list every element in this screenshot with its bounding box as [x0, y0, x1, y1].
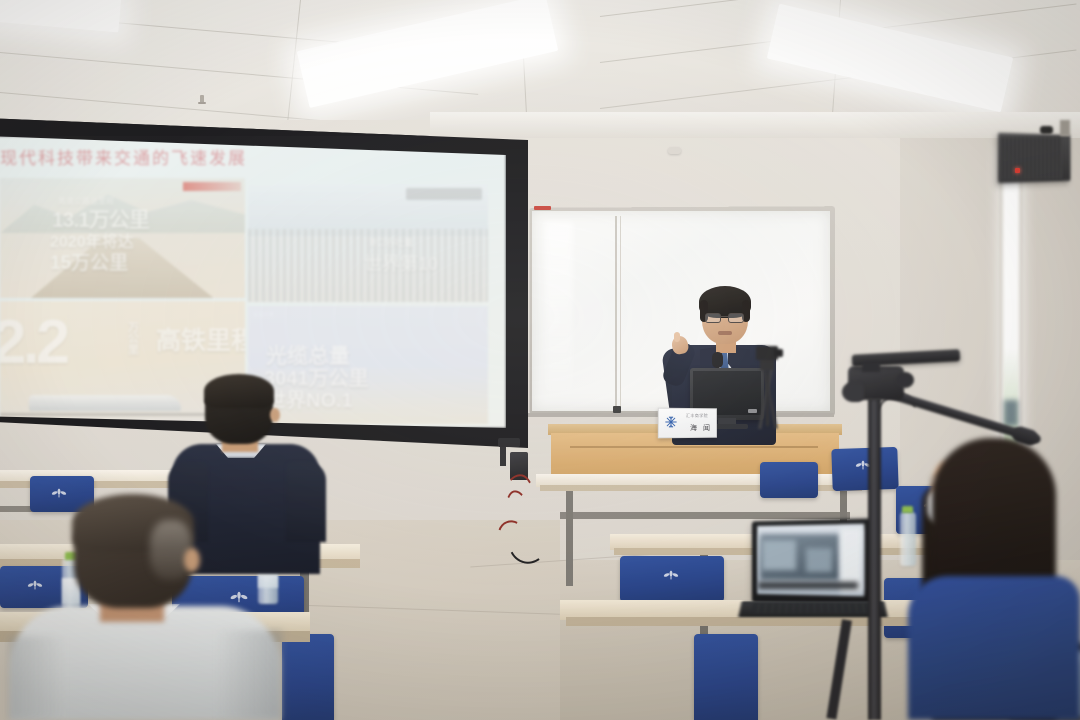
desk-shelf [560, 512, 850, 519]
placard-name: 海 闻 [690, 423, 712, 433]
slide-text: 世界第10 [364, 250, 438, 276]
lecture-hall-photo: 现代科技带来交通的飞速发展 高速公路总里程 13.1万公里 2020年将达 15… [0, 0, 1080, 720]
speaker-finger [674, 332, 680, 342]
slide-text: 2.2 [0, 307, 66, 378]
desk-leg [566, 490, 573, 586]
video-tile [806, 548, 832, 572]
speaker-glasses-lens [705, 313, 721, 323]
whiteboard-rail [620, 216, 621, 412]
speaker-glasses-lens [728, 313, 744, 323]
camera-lens [774, 349, 783, 357]
chair[interactable] [760, 462, 818, 498]
pole-cap [498, 438, 520, 447]
ceiling-camera [1040, 126, 1053, 134]
attendee-2-shading [216, 630, 282, 720]
attendee-3-body [908, 576, 1080, 720]
slide-text: 世界NO.1 [266, 384, 353, 413]
slide-text: 港口吞吐量 [368, 236, 413, 249]
attendee-1-ear [270, 408, 280, 422]
slide-text: 万公里 [128, 323, 142, 356]
podium-groove [570, 446, 818, 448]
tripod-knob[interactable] [896, 372, 914, 388]
ceiling-sensor [668, 147, 681, 154]
slide-quadrant-top-right: 港口吞吐量 世界第10 [248, 184, 488, 302]
slide-text: 15万公里 [50, 248, 128, 275]
bottle-cap [902, 506, 913, 513]
attendee-2-shading [8, 636, 66, 720]
slide-title: 现代科技带来交通的飞速发展 [0, 144, 340, 169]
university-emblem-icon [660, 568, 682, 580]
taskbar [758, 582, 858, 589]
cctv-watermark: CCTV [254, 312, 274, 318]
university-emblem-icon [24, 578, 46, 590]
tripod-knob[interactable] [842, 382, 864, 402]
tripod-leg [766, 368, 769, 426]
microphone [712, 352, 723, 368]
ceiling-light-panel [767, 4, 1013, 113]
chair[interactable] [694, 634, 758, 720]
whiteboard-clip [613, 406, 621, 413]
water-bottle[interactable] [900, 512, 916, 566]
university-emblem-icon [226, 590, 252, 604]
speaker-mouth [718, 331, 732, 335]
slide-quadrant-top-left: 高速公路总里程 13.1万公里 2020年将达 15万公里 [0, 178, 245, 298]
chair[interactable] [282, 634, 334, 720]
sprinkler-head [200, 95, 204, 104]
speaker-grille [1000, 137, 1062, 179]
attendee-2-ear [184, 548, 200, 572]
video-tile [762, 540, 796, 570]
speaker-led-indicator [1015, 168, 1020, 173]
attendee-1-hair [204, 374, 274, 408]
whiteboard-rail [615, 216, 617, 412]
quick-release-plate [862, 362, 880, 372]
speaker-bracket [1060, 120, 1070, 136]
ceiling-light-panel [0, 0, 121, 32]
snowflake-logo [664, 415, 678, 429]
speaker-glasses-bridge [721, 316, 728, 317]
ceiling-light-panel [297, 0, 559, 108]
whiteboard-glare [545, 222, 573, 392]
whiteboard-marker[interactable] [534, 206, 551, 210]
tripod-column [868, 398, 881, 720]
placard-org: 汇丰商学院 [686, 413, 708, 419]
slide-text: 高铁里程 [156, 321, 245, 357]
monitor-brand-logo [748, 409, 757, 413]
ceiling-soffit [430, 112, 1080, 138]
laptop-keyboard[interactable] [751, 603, 873, 613]
slide-quadrant-bottom-right: CCTV 光缆总量 3041万公里 世界NO.1 [248, 306, 488, 424]
university-emblem-icon [48, 486, 70, 498]
window-outside-view [1004, 400, 1018, 426]
attendee-1-shoulder [286, 462, 326, 542]
attendee-2-hair-highlight [150, 520, 192, 580]
